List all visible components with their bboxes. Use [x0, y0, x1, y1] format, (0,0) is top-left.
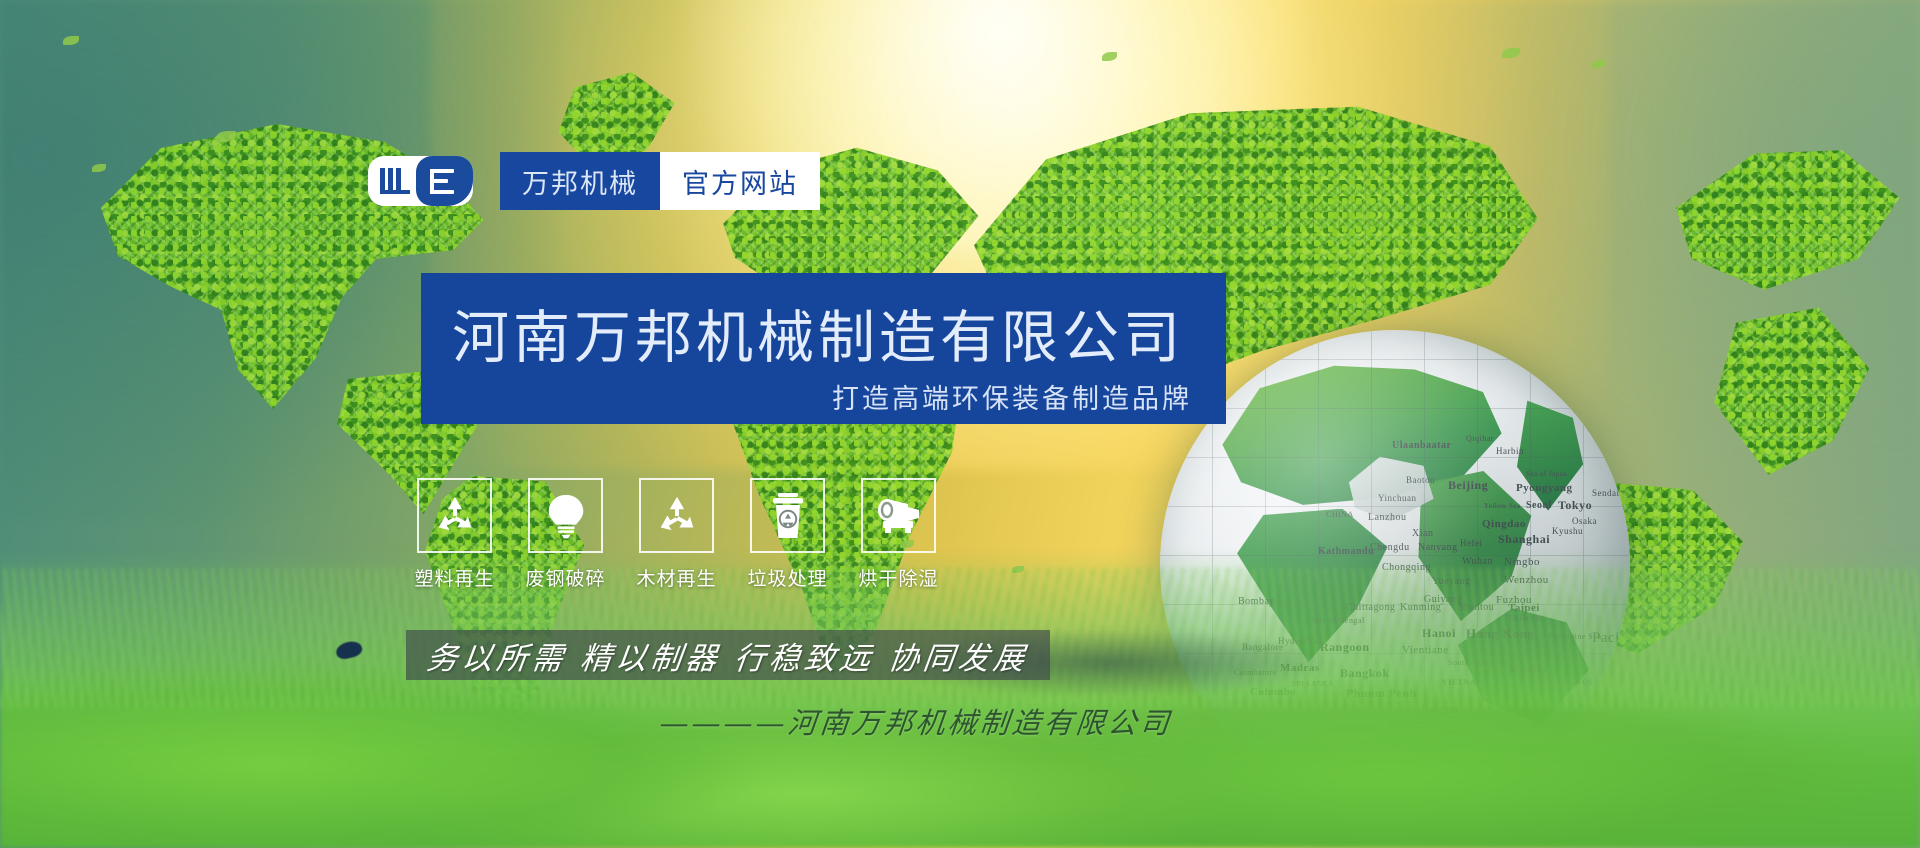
feature-item-waste-treatment[interactable]: 垃圾处理: [750, 478, 825, 591]
feature-icon-row: 塑料再生 废钢破碎: [417, 478, 936, 591]
feature-icon-frame: [528, 478, 603, 553]
trash-bin-icon: [769, 492, 807, 540]
feature-icon-frame: [417, 478, 492, 553]
logo-letter-w-underline: [380, 190, 410, 194]
recycle-icon: [654, 493, 700, 539]
slogan-text: 务以所需 精以制器 行稳致远 协同发展: [424, 633, 1031, 678]
feature-icon-frame: [750, 478, 825, 553]
logo-letter-b-icon: [430, 169, 460, 194]
tab-official-website[interactable]: 官方网站: [660, 152, 820, 210]
slogan-banner: 务以所需 精以制器 行稳致远 协同发展: [406, 630, 1050, 680]
feature-label: 垃圾处理: [748, 564, 828, 591]
header-nav-tabs: 万邦机械 官方网站: [500, 152, 820, 210]
feature-icon-frame: [861, 478, 936, 553]
brand-logo[interactable]: [368, 156, 473, 206]
feature-label: 塑料再生: [415, 564, 495, 591]
feature-item-wood-recycling[interactable]: 木材再生: [639, 478, 714, 591]
feature-label: 木材再生: [637, 564, 717, 591]
slogan-signature: ————河南万邦机械制造有限公司: [658, 700, 1182, 742]
page-title: 河南万邦机械制造有限公司: [452, 292, 1184, 374]
feature-icon-frame: [639, 478, 714, 553]
feature-label: 废钢破碎: [526, 564, 606, 591]
feature-item-plastic-recycling[interactable]: 塑料再生: [417, 478, 492, 591]
feature-label: 烘干除湿: [859, 564, 939, 591]
feature-item-scrap-steel-crushing[interactable]: 废钢破碎: [528, 478, 603, 591]
hero-banner: UlaanbaatarBeijingBaotouYinchuanPyongyan…: [0, 0, 1920, 848]
company-subtitle-banner: 打造高端环保装备制造品牌: [421, 368, 1226, 424]
feature-item-drying-dehumidifying[interactable]: 烘干除湿: [861, 478, 936, 591]
dryer-icon: [875, 496, 923, 536]
lightbulb-icon: [544, 493, 588, 539]
tab-company-name[interactable]: 万邦机械: [500, 152, 660, 210]
page-subtitle: 打造高端环保装备制造品牌: [832, 377, 1192, 416]
continent-northeast-asia: [1650, 140, 1910, 310]
continent-oceania: [1700, 300, 1880, 490]
header-logo-row: 万邦机械 官方网站: [368, 152, 820, 210]
recycle-icon: [432, 493, 478, 539]
